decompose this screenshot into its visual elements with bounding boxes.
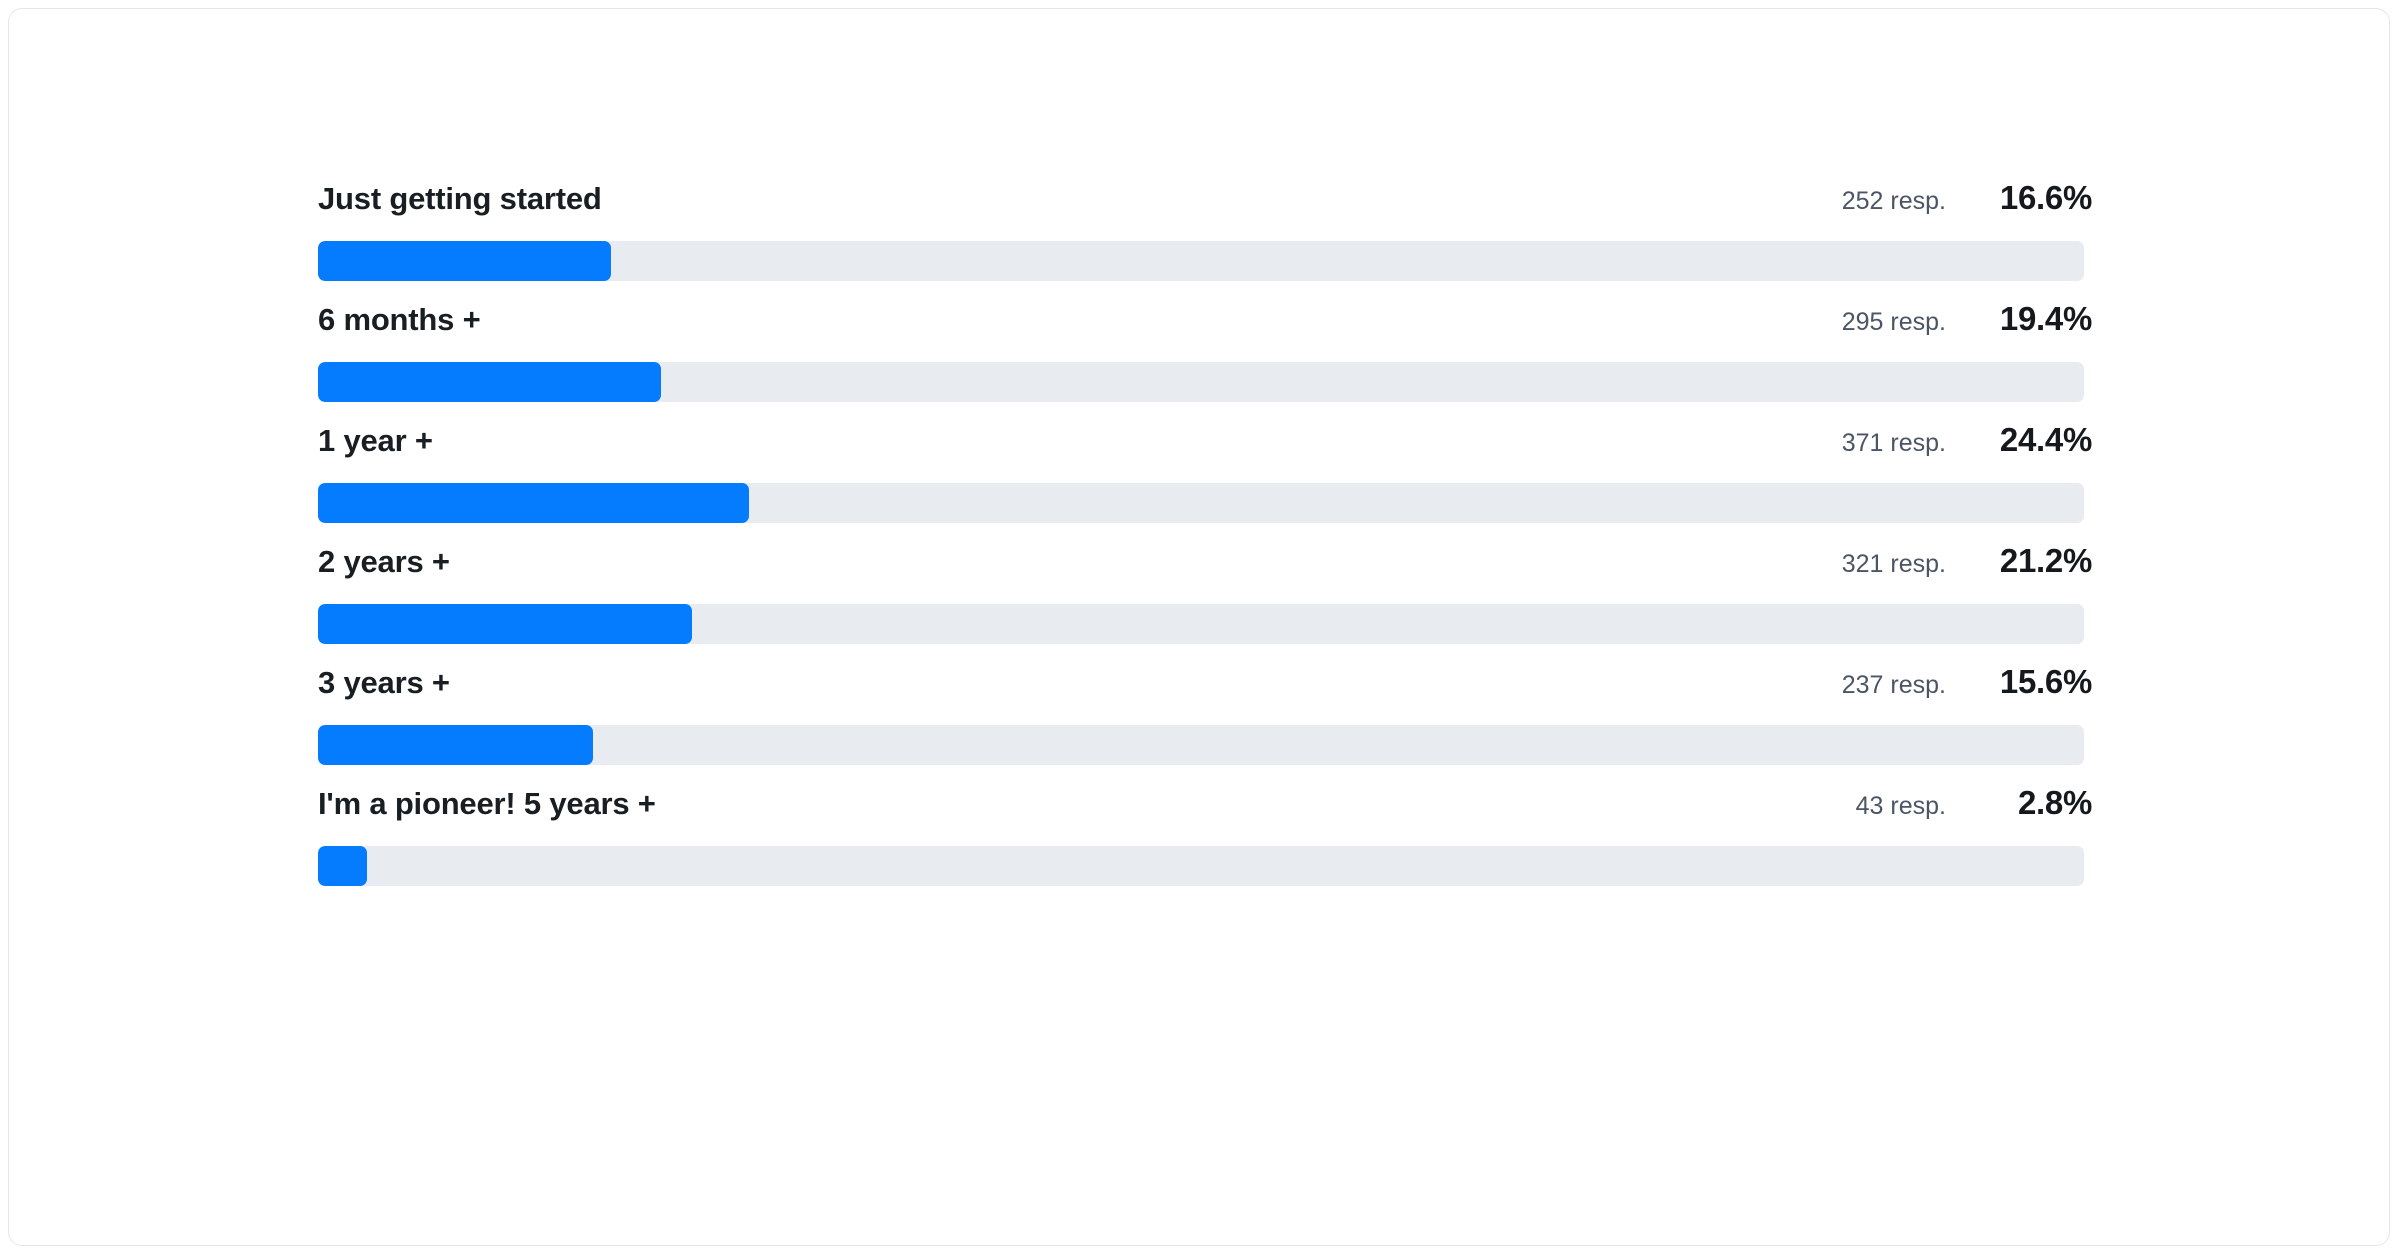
poll-row-header: Just getting started 252 resp. 16.6% — [318, 179, 2092, 235]
poll-row-header: 2 years + 321 resp. 21.2% — [318, 542, 2092, 598]
poll-result-row: 6 months + 295 resp. 19.4% — [318, 300, 2092, 402]
option-label: 1 year + — [318, 423, 433, 459]
bar-track — [318, 604, 2084, 644]
bar-fill — [318, 846, 367, 886]
poll-result-row: 1 year + 371 resp. 24.4% — [318, 421, 2092, 523]
percent-value: 19.4% — [1974, 300, 2092, 338]
bar-track — [318, 725, 2084, 765]
bar-track — [318, 362, 2084, 402]
bar-fill — [318, 725, 593, 765]
poll-row-header: 3 years + 237 resp. 15.6% — [318, 663, 2092, 719]
bar-fill — [318, 604, 692, 644]
percent-value: 21.2% — [1974, 542, 2092, 580]
poll-row-stats: 237 resp. 15.6% — [1842, 663, 2092, 701]
bar-track — [318, 483, 2084, 523]
bar-track — [318, 241, 2084, 281]
response-count: 252 resp. — [1842, 187, 1946, 216]
survey-results-card: Just getting started 252 resp. 16.6% 6 m… — [8, 8, 2390, 1246]
percent-value: 16.6% — [1974, 179, 2092, 217]
poll-row-stats: 295 resp. 19.4% — [1842, 300, 2092, 338]
option-label: 2 years + — [318, 544, 450, 580]
poll-row-stats: 252 resp. 16.6% — [1842, 179, 2092, 217]
bar-track — [318, 846, 2084, 886]
percent-value: 24.4% — [1974, 421, 2092, 459]
response-count: 43 resp. — [1856, 792, 1946, 821]
option-label: I'm a pioneer! 5 years + — [318, 786, 656, 822]
option-label: 3 years + — [318, 665, 450, 701]
response-count: 321 resp. — [1842, 550, 1946, 579]
response-count: 295 resp. — [1842, 308, 1946, 337]
poll-row-stats: 321 resp. 21.2% — [1842, 542, 2092, 580]
percent-value: 2.8% — [1974, 784, 2092, 822]
poll-row-stats: 43 resp. 2.8% — [1856, 784, 2092, 822]
option-label: Just getting started — [318, 181, 602, 217]
option-label: 6 months + — [318, 302, 481, 338]
poll-results-list: Just getting started 252 resp. 16.6% 6 m… — [318, 179, 2092, 886]
poll-result-row: Just getting started 252 resp. 16.6% — [318, 179, 2092, 281]
poll-result-row: I'm a pioneer! 5 years + 43 resp. 2.8% — [318, 784, 2092, 886]
poll-row-header: 1 year + 371 resp. 24.4% — [318, 421, 2092, 477]
response-count: 371 resp. — [1842, 429, 1946, 458]
poll-row-header: I'm a pioneer! 5 years + 43 resp. 2.8% — [318, 784, 2092, 840]
response-count: 237 resp. — [1842, 671, 1946, 700]
percent-value: 15.6% — [1974, 663, 2092, 701]
bar-fill — [318, 362, 661, 402]
poll-row-stats: 371 resp. 24.4% — [1842, 421, 2092, 459]
poll-row-header: 6 months + 295 resp. 19.4% — [318, 300, 2092, 356]
poll-result-row: 2 years + 321 resp. 21.2% — [318, 542, 2092, 644]
poll-result-row: 3 years + 237 resp. 15.6% — [318, 663, 2092, 765]
bar-fill — [318, 483, 749, 523]
bar-fill — [318, 241, 611, 281]
